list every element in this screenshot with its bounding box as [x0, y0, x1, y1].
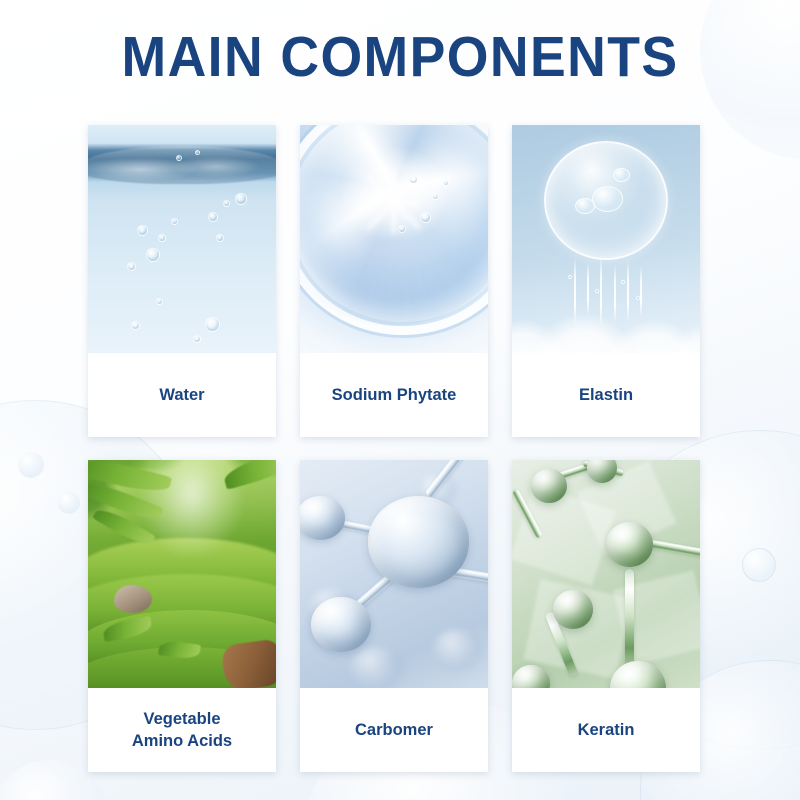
sparkle-icon: [368, 171, 421, 235]
component-label: Elastin: [579, 384, 633, 406]
glass-of-water-top-view-image: [300, 125, 488, 353]
blue-molecule-model-image: [300, 460, 488, 688]
component-caption: Sodium Phytate: [300, 353, 488, 437]
bubble-icon: [544, 141, 668, 260]
component-label: Sodium Phytate: [332, 384, 457, 406]
green-molecule-model-image: [512, 460, 700, 688]
bubble-icon: [575, 198, 595, 214]
component-card-elastin[interactable]: Elastin: [512, 125, 700, 437]
foam-icon: [512, 307, 700, 353]
component-card-sodium-phytate[interactable]: Sodium Phytate: [300, 125, 488, 437]
page-title: MAIN COMPONENTS: [24, 24, 776, 90]
component-caption: Keratin: [512, 688, 700, 772]
component-caption: Carbomer: [300, 688, 488, 772]
component-label: Carbomer: [355, 719, 433, 741]
component-label: Water: [159, 384, 204, 406]
components-grid: Water Sodium Phytate: [88, 125, 713, 772]
component-card-keratin[interactable]: Keratin: [512, 460, 700, 772]
component-caption: Water: [88, 353, 276, 437]
component-label: Keratin: [578, 719, 635, 741]
bubble-watermark-icon: [58, 492, 80, 514]
component-card-carbomer[interactable]: Carbomer: [300, 460, 488, 772]
glass-highlight: [341, 148, 446, 239]
bubble-icon: [613, 168, 630, 182]
component-caption: Elastin: [512, 353, 700, 437]
main-components-poster: MAIN COMPONENTS Wa: [0, 0, 800, 800]
component-caption: Vegetable Amino Acids: [88, 688, 276, 772]
component-card-water[interactable]: Water: [88, 125, 276, 437]
water-surface-bubbles-image: [88, 125, 276, 353]
component-label: Vegetable Amino Acids: [132, 708, 232, 752]
green-moss-forest-floor-image: [88, 460, 276, 688]
transparent-bubble-foam-image: [512, 125, 700, 353]
bubble-watermark-icon: [742, 548, 776, 582]
bubble-watermark-icon: [18, 452, 44, 478]
component-card-vegetable-amino-acids[interactable]: Vegetable Amino Acids: [88, 460, 276, 772]
bubble-icon: [592, 186, 623, 211]
